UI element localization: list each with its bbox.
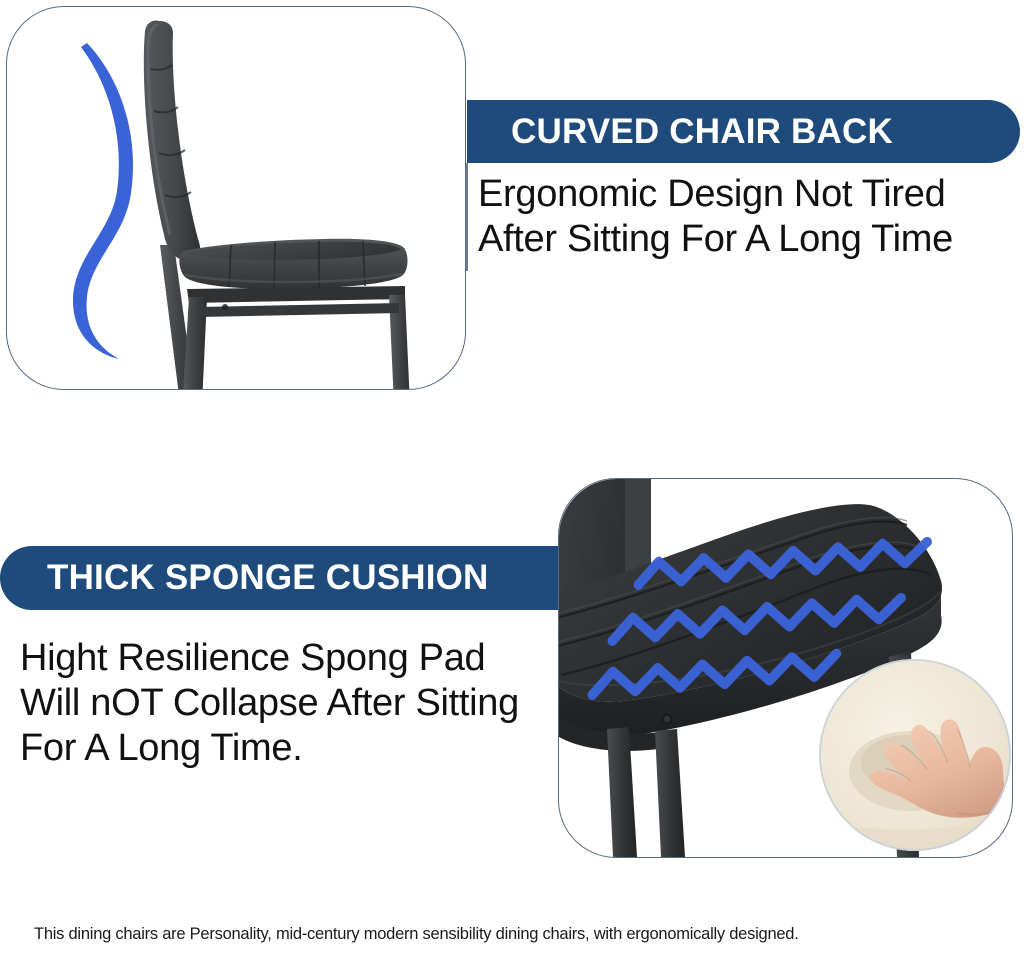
description-line: For A Long Time. bbox=[20, 726, 580, 771]
thick-sponge-cushion-photo bbox=[559, 479, 1012, 857]
description-line: Will nOT Collapse After Sitting bbox=[20, 681, 580, 726]
description-curved-chair-back: Ergonomic Design Not Tired After Sitting… bbox=[478, 172, 1018, 262]
banner-label-curved-chair-back: CURVED CHAIR BACK bbox=[511, 112, 893, 152]
footer-caption: This dining chairs are Personality, mid-… bbox=[34, 925, 1004, 944]
description-thick-sponge-cushion: Hight Resilience Spong Pad Will nOT Coll… bbox=[20, 636, 580, 771]
banner-curved-chair-back: CURVED CHAIR BACK bbox=[467, 100, 1020, 163]
description-line: After Sitting For A Long Time bbox=[478, 217, 1018, 262]
banner-label-thick-sponge-cushion: THICK SPONGE CUSHION bbox=[47, 558, 489, 598]
banner-thick-sponge-cushion: THICK SPONGE CUSHION bbox=[0, 546, 558, 610]
curved-chair-back-photo bbox=[7, 7, 465, 389]
chair-side-view-icon bbox=[127, 7, 465, 389]
description-line: Hight Resilience Spong Pad bbox=[20, 636, 580, 681]
foam-press-icon bbox=[815, 655, 1012, 855]
description-line: Ergonomic Design Not Tired bbox=[478, 172, 1018, 217]
top-card-right-hairline bbox=[466, 163, 468, 271]
